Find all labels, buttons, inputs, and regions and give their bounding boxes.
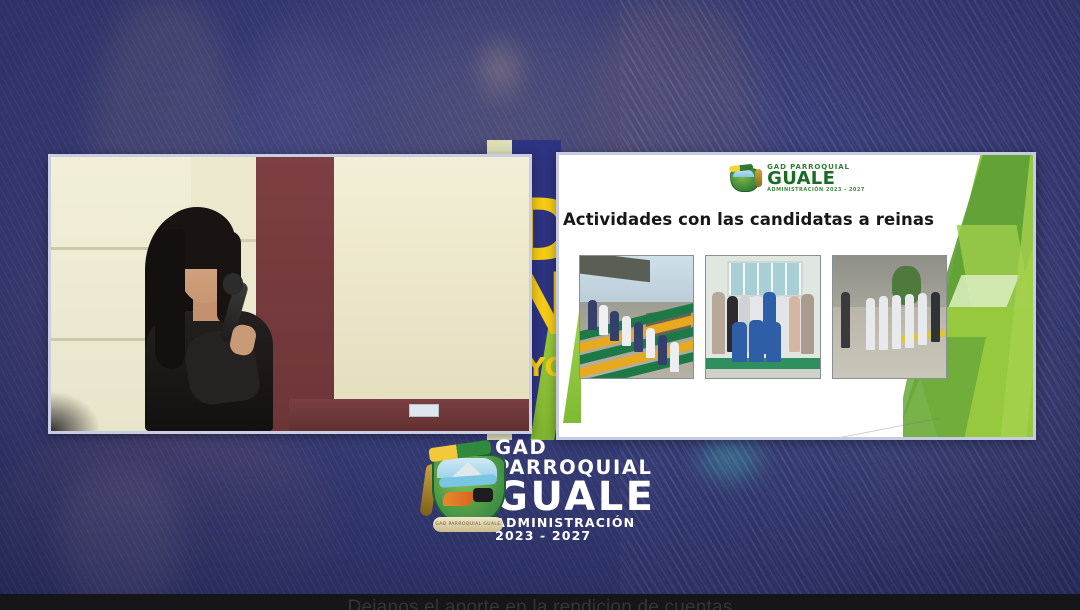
guale-crest-icon xyxy=(727,165,762,192)
slide-logo: GAD PARROQUIAL GUALE ADMINISTRACIÓN 2023… xyxy=(727,164,865,193)
speaker-figure xyxy=(135,205,315,431)
crest-motto: GAD PARROQUIAL GUALE xyxy=(433,517,503,532)
microphone-head-icon xyxy=(223,273,243,295)
desk-plaque xyxy=(409,404,439,417)
brand-text: GAD PARROQUIAL GUALE ADMINISTRACIÓN 2023… xyxy=(495,438,669,542)
slide-photo-stairs xyxy=(579,255,694,379)
brand-line1: GAD PARROQUIAL xyxy=(495,438,669,477)
slide-photo-indoor-group xyxy=(705,255,820,379)
broadcast-stage: DA N AYO xyxy=(0,0,1080,610)
slide-thin-diagonal-line xyxy=(624,418,938,437)
camera-feed xyxy=(51,157,529,431)
slide-logo-line3: ADMINISTRACIÓN 2023 - 2027 xyxy=(767,188,865,193)
guale-crest-logo-icon: GAD PARROQUIAL GUALE xyxy=(421,442,487,538)
slide-photo-row xyxy=(579,255,947,379)
presentation-slide-panel[interactable]: GAD PARROQUIAL GUALE ADMINISTRACIÓN 2023… xyxy=(556,152,1036,440)
brand-line2: GUALE xyxy=(495,478,669,516)
speaker-camera-panel[interactable] xyxy=(48,154,532,434)
slide-photo-street-parade xyxy=(832,255,947,379)
room-wall-right xyxy=(334,157,529,431)
brand-lockup: GAD PARROQUIAL GUALE GAD PARROQUIAL GUAL… xyxy=(421,440,669,540)
brand-line3: ADMINISTRACIÓN 2023 - 2027 xyxy=(495,517,669,542)
slide-logo-line2: GUALE xyxy=(767,170,865,188)
speaker-hair-side-left xyxy=(155,229,185,369)
foreground-shadow xyxy=(51,391,101,431)
caption-bar: Dejanos el aporte en la rendicion de cue… xyxy=(0,594,1080,610)
slide-surface: GAD PARROQUIAL GUALE ADMINISTRACIÓN 2023… xyxy=(559,155,1033,437)
slide-title: Actividades con las candidatas a reinas xyxy=(559,210,938,229)
caption-text: Dejanos el aporte en la rendicion de cue… xyxy=(0,597,1080,610)
